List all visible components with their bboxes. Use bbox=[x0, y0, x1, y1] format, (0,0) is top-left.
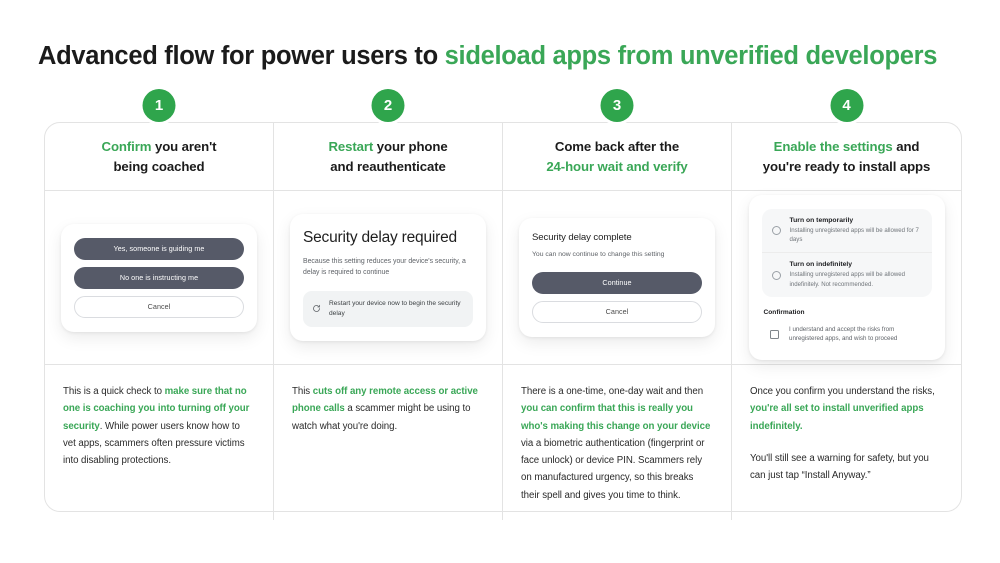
mock-title-security-delay-required: Security delay required bbox=[303, 228, 473, 247]
mock-confirmation-row[interactable]: I understand and accept the risks from u… bbox=[762, 325, 932, 346]
step-header-4: Enable the settings and you're ready to … bbox=[732, 123, 961, 191]
page-title-lead: Advanced flow for power users to bbox=[38, 42, 445, 70]
step-header-highlight-1: Confirm bbox=[102, 139, 152, 154]
mock-button-cancel[interactable]: Cancel bbox=[532, 301, 702, 323]
body-highlight: you're all set to install unverified app… bbox=[750, 403, 924, 431]
step-mock-3: Security delay complete You can now cont… bbox=[503, 191, 731, 365]
page-title: Advanced flow for power users to sideloa… bbox=[38, 42, 968, 71]
step-body-1: This is a quick check to make sure that … bbox=[45, 365, 273, 520]
step-header-line2-3: 24-hour wait and verify bbox=[546, 159, 687, 174]
mock-confirmation-label: Confirmation bbox=[764, 309, 932, 316]
step-badge-4: 4 bbox=[830, 89, 863, 122]
step-column-3: 3 Come back after the 24-hour wait and v… bbox=[503, 123, 732, 520]
mock-radio-option-indefinite[interactable]: Turn on indefinitely Installing unregist… bbox=[762, 252, 932, 296]
step-body-paragraph-3: There is a one-time, one-day wait and th… bbox=[521, 383, 713, 504]
mock-radio-desc-indefinite: Installing unregistered apps will be all… bbox=[790, 270, 922, 288]
step-body-2: This cuts off any remote access or activ… bbox=[274, 365, 502, 520]
step-header-3: Come back after the 24-hour wait and ver… bbox=[503, 123, 731, 191]
radio-icon[interactable] bbox=[772, 226, 781, 235]
step-header-rest-1: you aren't bbox=[151, 139, 216, 154]
step-badge-1: 1 bbox=[143, 89, 176, 122]
step-header-text-1: Confirm you aren't being coached bbox=[102, 137, 217, 175]
body-highlight: you can confirm that this is really you … bbox=[521, 403, 710, 431]
mock-confirmation-text: I understand and accept the risks from u… bbox=[789, 325, 922, 344]
body-text: via a biometric authentication (fingerpr… bbox=[521, 438, 704, 501]
body-text: You'll still see a warning for safety, b… bbox=[750, 453, 929, 481]
step-column-1: 1 Confirm you aren't being coached Yes, … bbox=[45, 123, 274, 520]
steps-grid: 1 Confirm you aren't being coached Yes, … bbox=[44, 122, 962, 512]
restart-icon bbox=[312, 300, 321, 318]
step-header-text-2: Restart your phone and reauthenticate bbox=[328, 137, 447, 175]
step-header-2: Restart your phone and reauthenticate bbox=[274, 123, 502, 191]
mock-button-yes-guiding[interactable]: Yes, someone is guiding me bbox=[74, 238, 244, 260]
mock-button-no-instructing[interactable]: No one is instructing me bbox=[74, 267, 244, 289]
step-badge-2: 2 bbox=[372, 89, 405, 122]
mock-radio-desc-temporary: Installing unregistered apps will be all… bbox=[790, 226, 922, 244]
body-text: Once you confirm you understand the risk… bbox=[750, 386, 935, 397]
step-body-paragraph-4a: Once you confirm you understand the risk… bbox=[750, 383, 943, 435]
mock-dialog-coaching-check: Yes, someone is guiding me No one is ins… bbox=[61, 224, 257, 332]
mock-radio-option-indefinite-content: Turn on indefinitely Installing unregist… bbox=[790, 261, 922, 288]
mock-radio-option-temporary-content: Turn on temporarily Installing unregiste… bbox=[790, 217, 922, 244]
mock-radio-option-temporary[interactable]: Turn on temporarily Installing unregiste… bbox=[762, 209, 932, 252]
step-body-3: There is a one-time, one-day wait and th… bbox=[503, 365, 731, 520]
mock-dialog-permission-options: Turn on temporarily Installing unregiste… bbox=[749, 195, 945, 360]
body-text: This bbox=[292, 386, 313, 397]
step-header-rest-3: Come back after the bbox=[555, 139, 679, 154]
step-header-highlight-2: Restart bbox=[328, 139, 373, 154]
step-header-1: Confirm you aren't being coached bbox=[45, 123, 273, 191]
mock-tile-restart-device[interactable]: Restart your device now to begin the sec… bbox=[303, 291, 473, 327]
radio-icon[interactable] bbox=[772, 271, 781, 280]
step-column-2: 2 Restart your phone and reauthenticate … bbox=[274, 123, 503, 520]
step-header-highlight-4: Enable the settings bbox=[774, 139, 893, 154]
step-mock-2: Security delay required Because this set… bbox=[274, 191, 502, 365]
step-badge-3: 3 bbox=[601, 89, 634, 122]
checkbox-icon[interactable] bbox=[770, 330, 780, 340]
step-mock-4: Turn on temporarily Installing unregiste… bbox=[732, 191, 961, 365]
mock-title-security-delay-complete: Security delay complete bbox=[532, 232, 702, 243]
infographic-page: Advanced flow for power users to sideloa… bbox=[0, 0, 1000, 563]
mock-button-cancel[interactable]: Cancel bbox=[74, 296, 244, 318]
step-body-4: Once you confirm you understand the risk… bbox=[732, 365, 961, 520]
step-header-line2-4: you're ready to install apps bbox=[763, 159, 930, 174]
step-header-rest-4: and bbox=[893, 139, 920, 154]
body-text: This is a quick check to bbox=[63, 386, 165, 397]
mock-body-security-delay-required: Because this setting reduces your device… bbox=[303, 256, 473, 279]
step-header-line2-1: being coached bbox=[113, 159, 204, 174]
mock-tile-text-restart-device: Restart your device now to begin the sec… bbox=[329, 299, 464, 319]
step-header-line2-2: and reauthenticate bbox=[330, 159, 445, 174]
body-text: There is a one-time, one-day wait and th… bbox=[521, 386, 703, 397]
mock-dialog-security-delay-required: Security delay required Because this set… bbox=[290, 214, 486, 342]
step-header-rest-2: your phone bbox=[373, 139, 447, 154]
step-column-4: 4 Enable the settings and you're ready t… bbox=[732, 123, 961, 520]
step-header-text-4: Enable the settings and you're ready to … bbox=[763, 137, 930, 175]
step-body-paragraph-2: This cuts off any remote access or activ… bbox=[292, 383, 484, 435]
step-mock-1: Yes, someone is guiding me No one is ins… bbox=[45, 191, 273, 365]
mock-button-continue[interactable]: Continue bbox=[532, 272, 702, 294]
page-title-highlight: sideload apps from unverified developers bbox=[445, 42, 937, 70]
step-body-paragraph-1: This is a quick check to make sure that … bbox=[63, 383, 255, 469]
mock-radio-title-indefinite: Turn on indefinitely bbox=[790, 261, 922, 268]
mock-radio-group: Turn on temporarily Installing unregiste… bbox=[762, 209, 932, 297]
mock-body-security-delay-complete: You can now continue to change this sett… bbox=[532, 250, 702, 260]
mock-dialog-security-delay-complete: Security delay complete You can now cont… bbox=[519, 218, 715, 336]
step-header-text-3: Come back after the 24-hour wait and ver… bbox=[546, 137, 687, 175]
mock-radio-title-temporary: Turn on temporarily bbox=[790, 217, 922, 224]
step-body-paragraph-4b: You'll still see a warning for safety, b… bbox=[750, 450, 943, 485]
